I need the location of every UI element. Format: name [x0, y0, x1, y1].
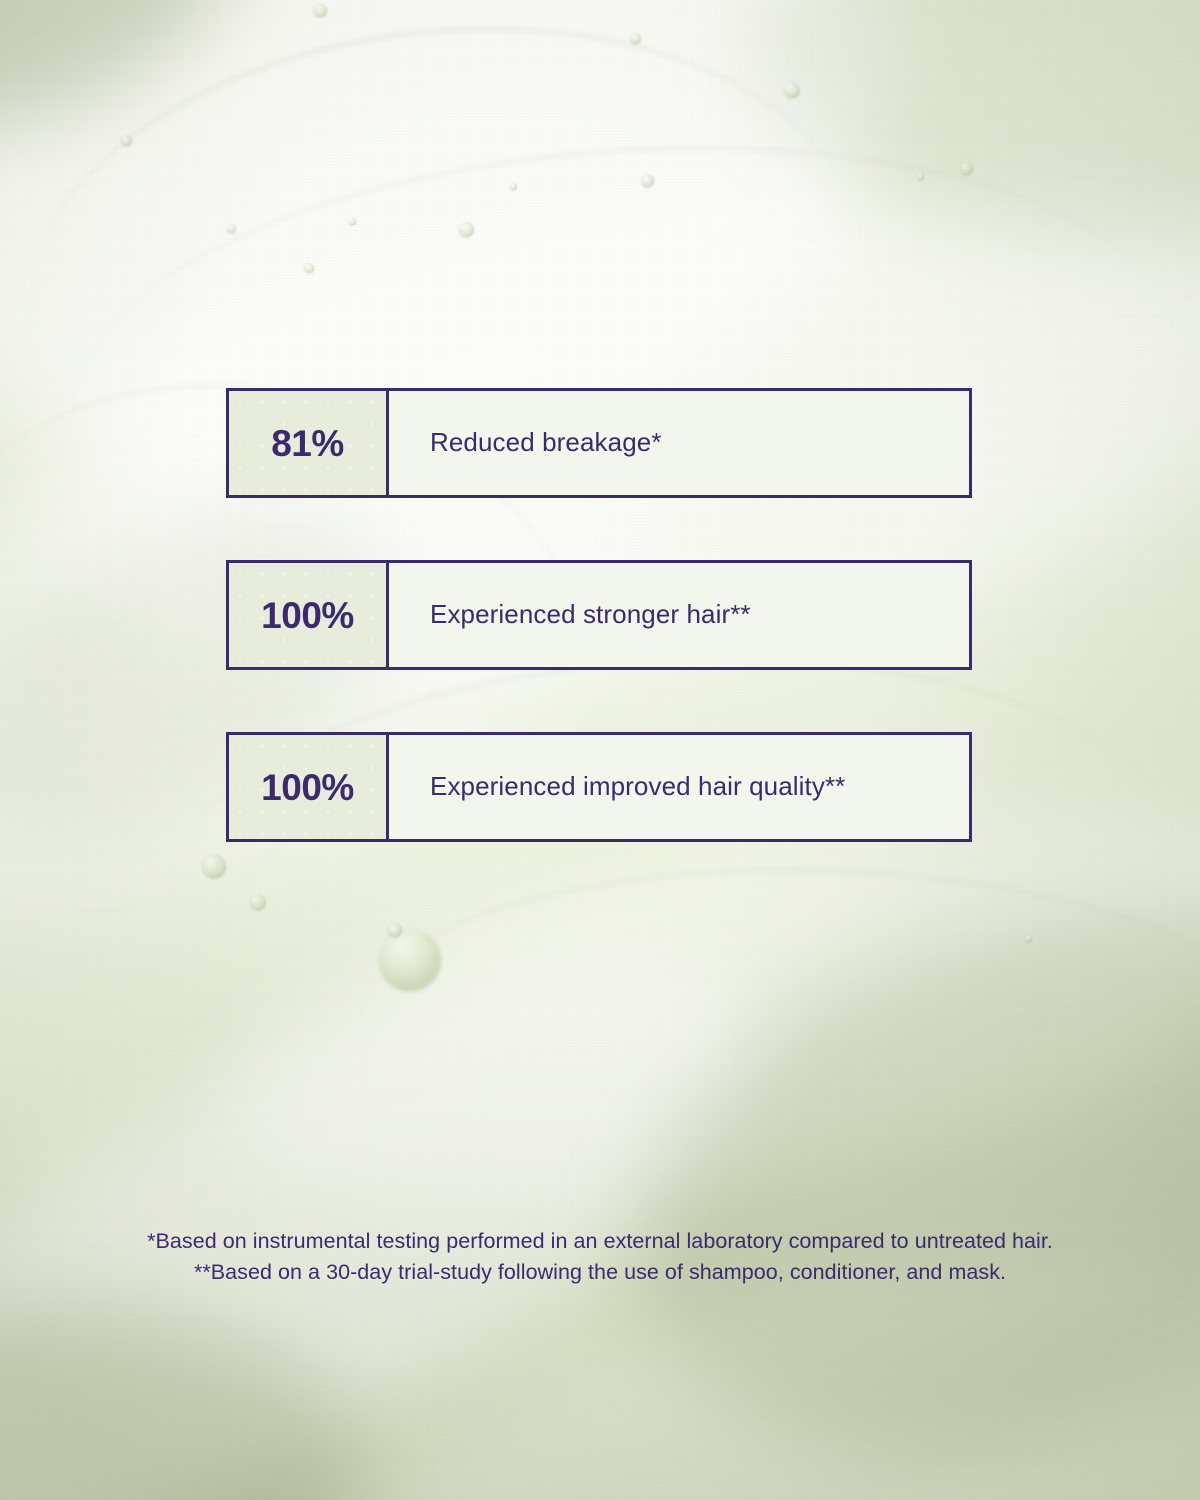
stat-value-cell: 81% [229, 391, 389, 495]
footnotes: *Based on instrumental testing performed… [0, 1226, 1200, 1287]
stat-label: Reduced breakage* [430, 428, 662, 458]
footnote-line-2: **Based on a 30-day trial-study followin… [0, 1257, 1200, 1288]
stat-label: Experienced improved hair quality** [430, 772, 845, 802]
stat-list: 81% Reduced breakage* 100% Experienced s… [226, 388, 972, 842]
stat-label-cell: Experienced improved hair quality** [389, 735, 969, 839]
stat-label-cell: Reduced breakage* [389, 391, 969, 495]
stat-value-cell: 100% [229, 563, 389, 667]
stat-row: 100% Experienced stronger hair** [226, 560, 972, 670]
stat-label: Experienced stronger hair** [430, 600, 751, 630]
stat-value: 100% [261, 769, 354, 806]
stat-label-cell: Experienced stronger hair** [389, 563, 969, 667]
stat-value: 100% [261, 597, 354, 634]
stat-value: 81% [271, 425, 344, 462]
stat-row: 100% Experienced improved hair quality** [226, 732, 972, 842]
footnote-line-1: *Based on instrumental testing performed… [0, 1226, 1200, 1257]
stat-value-cell: 100% [229, 735, 389, 839]
stat-row: 81% Reduced breakage* [226, 388, 972, 498]
